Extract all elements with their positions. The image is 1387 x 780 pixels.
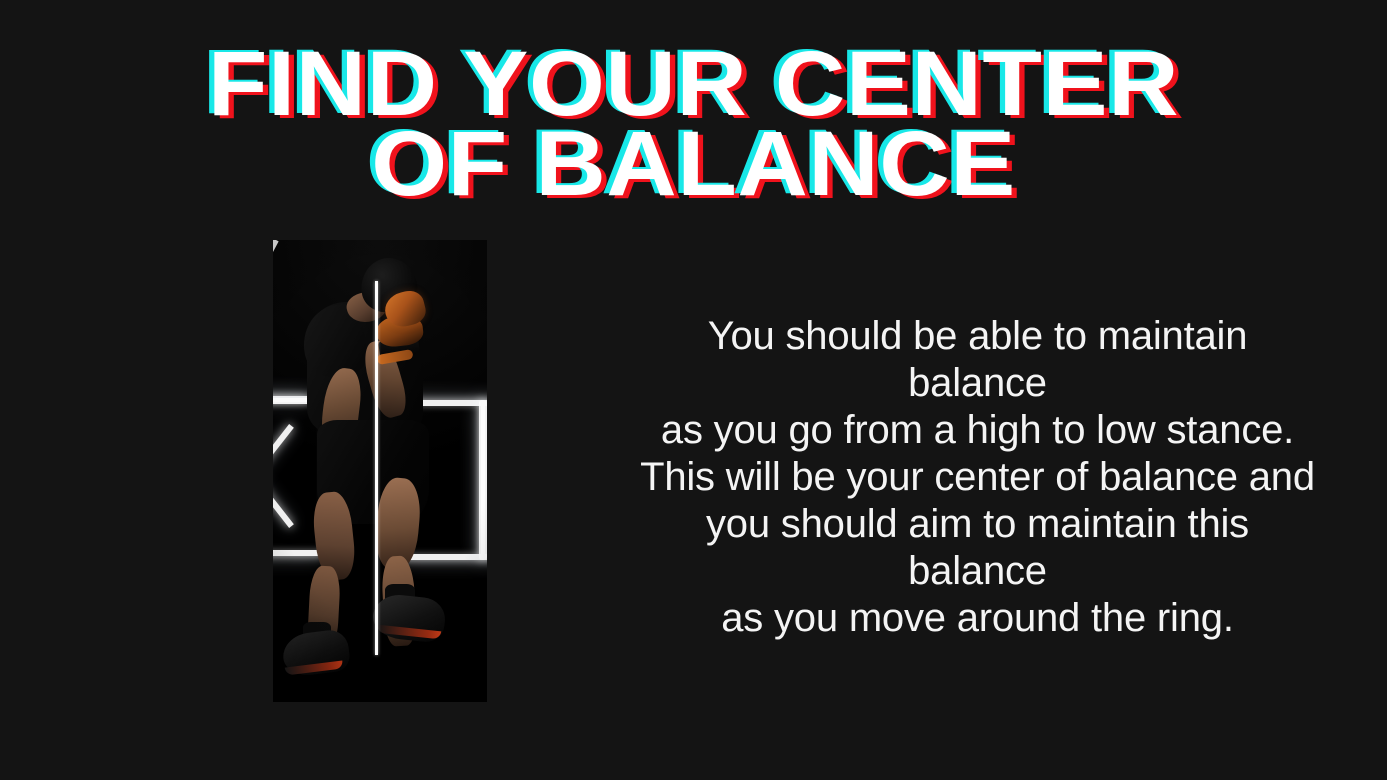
body-text-line-2: as you go from a high to low stance. [640, 407, 1315, 454]
body-text-line-5: as you move around the ring. [640, 595, 1315, 642]
body-text-line-1: You should be able to maintain balance [640, 313, 1315, 407]
body-text-line-4: you should aim to maintain this balance [640, 501, 1315, 595]
slide-root: FIND YOUR CENTER OF BALANCE [0, 0, 1387, 780]
title-line-2: OF BALANCE [0, 124, 1387, 204]
boxer-photo [273, 240, 487, 702]
boxer-figure [273, 240, 487, 702]
page-title: FIND YOUR CENTER OF BALANCE [0, 44, 1387, 204]
photo-backdrop [273, 240, 487, 702]
title-line-1: FIND YOUR CENTER [0, 44, 1387, 124]
body-text-line-3: This will be your center of balance and [640, 454, 1315, 501]
center-of-balance-line [375, 281, 378, 655]
body-text: You should be able to maintain balance a… [640, 313, 1315, 642]
